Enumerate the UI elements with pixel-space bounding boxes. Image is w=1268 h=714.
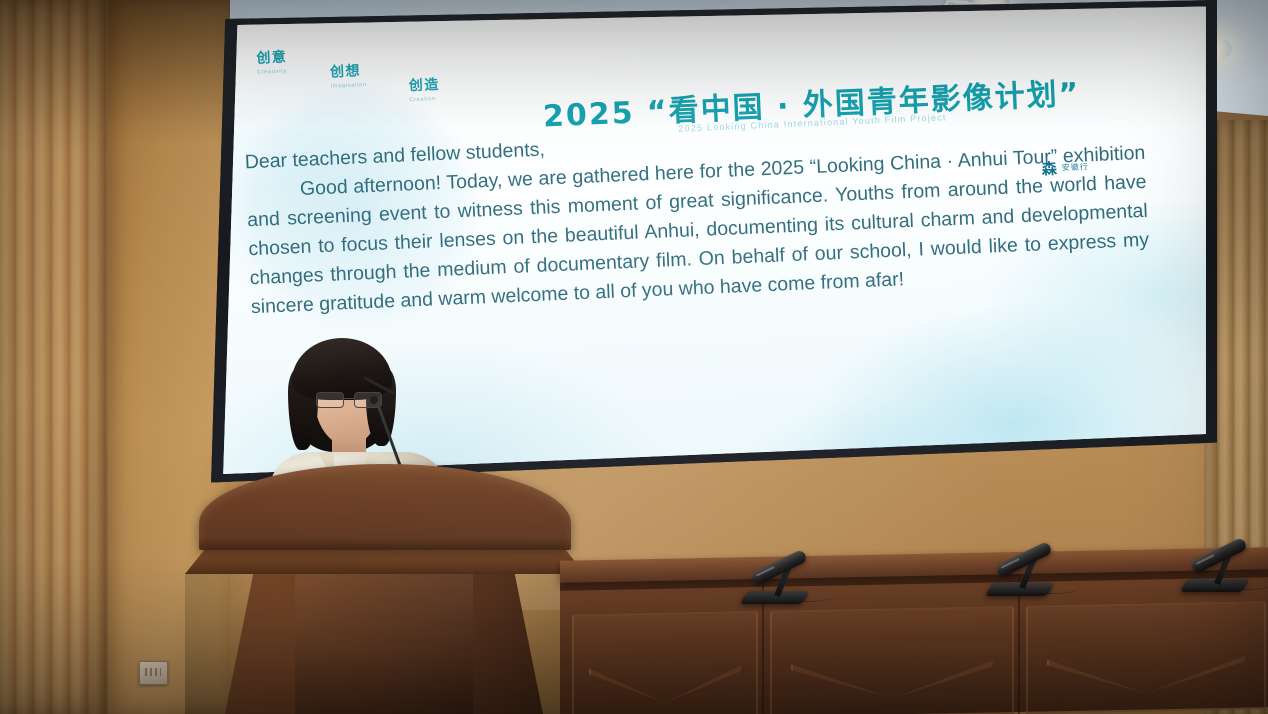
slide-header-item: 创想 Imagination <box>330 60 367 90</box>
desk-microphone-icon <box>740 540 836 604</box>
table-panel-inset <box>1026 601 1266 714</box>
speaker-hair-front <box>292 338 392 400</box>
desk-microphone-icon <box>985 532 1081 596</box>
slide-header-cn: 创造 <box>408 74 440 95</box>
slide-body-paragraph: Good afternoon! Today, we are gathered h… <box>247 142 1150 318</box>
slide-header-item: 创造 Creation <box>408 74 440 103</box>
conference-hall-photo: 创意 Creativity 创想 Imagination 创造 Creation… <box>0 0 1268 714</box>
table-panel-inset <box>572 611 758 714</box>
slide-header-en: Imagination <box>331 82 367 90</box>
slide-header-cn: 创意 <box>256 46 288 67</box>
slide-header-group: 创意 Creativity 创想 Imagination 创造 Creation <box>256 40 441 110</box>
table-front-panel <box>560 575 1268 714</box>
slide-header-en: Creation <box>409 96 440 103</box>
podium-column <box>225 572 543 714</box>
slide-header-en: Creativity <box>257 68 288 75</box>
slide-body-text: Dear teachers and fellow students, Good … <box>244 110 1151 322</box>
podium-lectern <box>185 464 585 714</box>
left-wall-slat-panel <box>0 0 108 714</box>
wall-outlet-plate <box>139 661 168 685</box>
podium-desktop <box>199 464 571 550</box>
desk-microphone-icon <box>1180 528 1268 592</box>
conference-table <box>560 554 1268 714</box>
headset-mic-tip-icon <box>370 396 378 404</box>
slide-header-cn: 创想 <box>330 60 367 82</box>
slide-header-item: 创意 Creativity <box>256 46 288 75</box>
table-panel-inset <box>770 606 1014 714</box>
